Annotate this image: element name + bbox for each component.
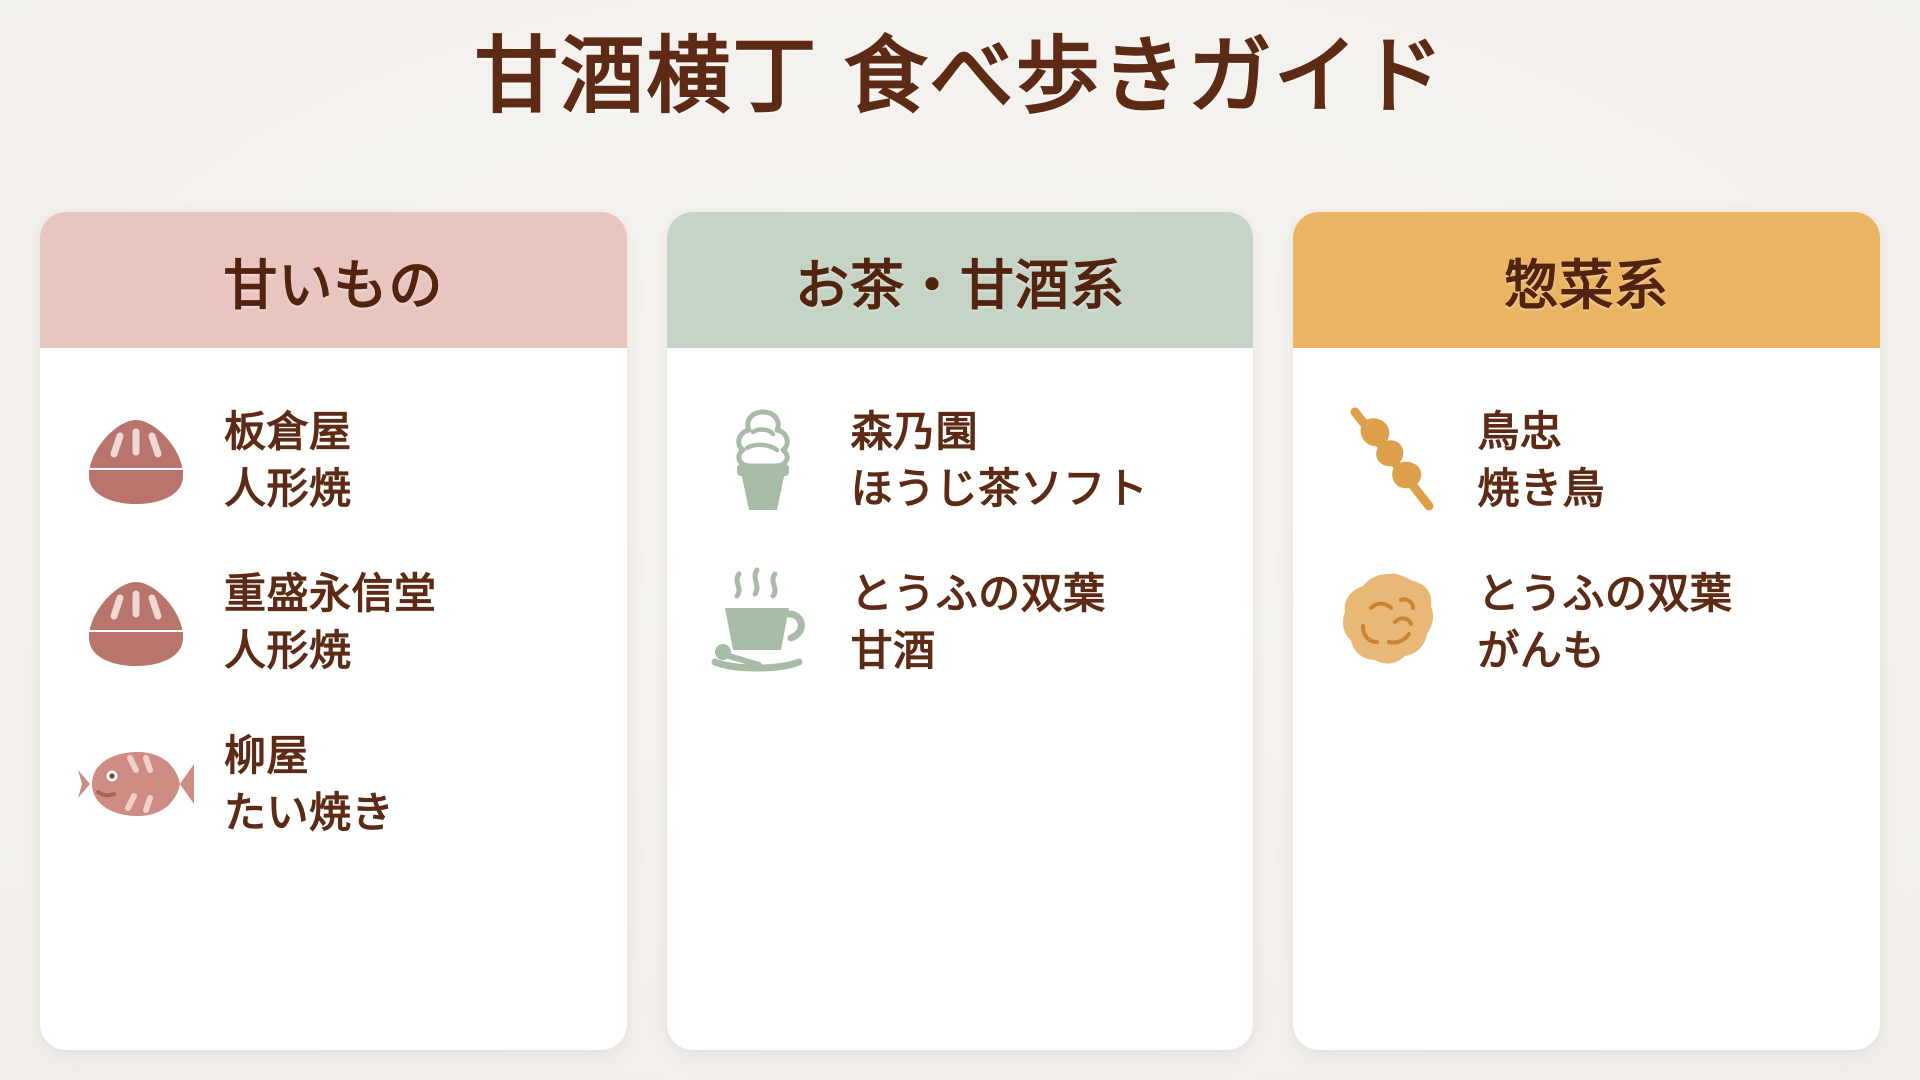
list-item[interactable]: 板倉屋 人形焼 xyxy=(74,400,593,520)
card-header-tea: お茶・甘酒系 xyxy=(667,212,1254,348)
category-card-sweets: 甘いもの 板倉屋 xyxy=(40,212,627,1050)
category-card-savory: 惣菜系 鳥忠 焼き鳥 xyxy=(1293,212,1880,1050)
list-item[interactable]: 鳥忠 焼き鳥 xyxy=(1327,400,1846,520)
card-header-label: 惣菜系 xyxy=(1504,241,1669,320)
shop-name: 板倉屋 xyxy=(224,404,352,459)
list-item[interactable]: 重盛永信堂 人形焼 xyxy=(74,562,593,682)
card-item-list-savory: 鳥忠 焼き鳥 xyxy=(1293,348,1880,1050)
list-item-text: 鳥忠 焼き鳥 xyxy=(1477,404,1605,517)
dish-name: たい焼き xyxy=(224,785,394,840)
dish-name: 焼き鳥 xyxy=(1477,461,1605,516)
ningyoyaki-manju-icon xyxy=(74,562,198,682)
shop-name: とうふの双葉 xyxy=(1477,566,1732,621)
list-item-text: 板倉屋 人形焼 xyxy=(224,404,352,517)
list-item-text: とうふの双葉 がんも xyxy=(1477,566,1732,679)
shop-name: 森乃園 xyxy=(851,404,1149,459)
shop-name: とうふの双葉 xyxy=(851,566,1106,621)
list-item-text: 重盛永信堂 人形焼 xyxy=(224,566,437,679)
ganmo-ball-icon xyxy=(1327,562,1451,682)
list-item[interactable]: 森乃園 ほうじ茶ソフト xyxy=(701,400,1220,520)
dish-name: 人形焼 xyxy=(224,623,437,678)
category-card-tea: お茶・甘酒系 森乃園 ほうじ茶ソフト xyxy=(667,212,1254,1050)
card-item-list-sweets: 板倉屋 人形焼 xyxy=(40,348,627,1050)
list-item[interactable]: とうふの双葉 甘酒 xyxy=(701,562,1220,682)
shop-name: 柳屋 xyxy=(224,728,394,783)
category-card-grid: 甘いもの 板倉屋 xyxy=(40,212,1880,1052)
card-header-label: お茶・甘酒系 xyxy=(795,241,1125,320)
card-header-sweets: 甘いもの xyxy=(40,212,627,348)
dish-name: 甘酒 xyxy=(851,623,1106,678)
teacup-icon xyxy=(701,562,825,682)
card-header-label: 甘いもの xyxy=(223,241,443,320)
shop-name: 鳥忠 xyxy=(1477,404,1605,459)
card-item-list-tea: 森乃園 ほうじ茶ソフト xyxy=(667,348,1254,1050)
dish-name: ほうじ茶ソフト xyxy=(851,461,1149,516)
list-item-text: 柳屋 たい焼き xyxy=(224,728,394,841)
list-item[interactable]: とうふの双葉 がんも xyxy=(1327,562,1846,682)
list-item[interactable]: 柳屋 たい焼き xyxy=(74,724,593,844)
list-item-text: 森乃園 ほうじ茶ソフト xyxy=(851,404,1149,517)
shop-name: 重盛永信堂 xyxy=(224,566,437,621)
ningyoyaki-manju-icon xyxy=(74,400,198,520)
guide-poster: 甘酒横丁 食べ歩きガイド 甘いもの xyxy=(0,0,1920,1080)
taiyaki-fish-icon xyxy=(74,724,198,844)
card-header-savory: 惣菜系 xyxy=(1293,212,1880,348)
list-item-text: とうふの双葉 甘酒 xyxy=(851,566,1106,679)
page-title: 甘酒横丁 食べ歩きガイド xyxy=(0,28,1920,125)
soft-serve-icon xyxy=(701,400,825,520)
yakitori-skewer-icon xyxy=(1327,400,1451,520)
dish-name: がんも xyxy=(1477,623,1732,678)
dish-name: 人形焼 xyxy=(224,461,352,516)
